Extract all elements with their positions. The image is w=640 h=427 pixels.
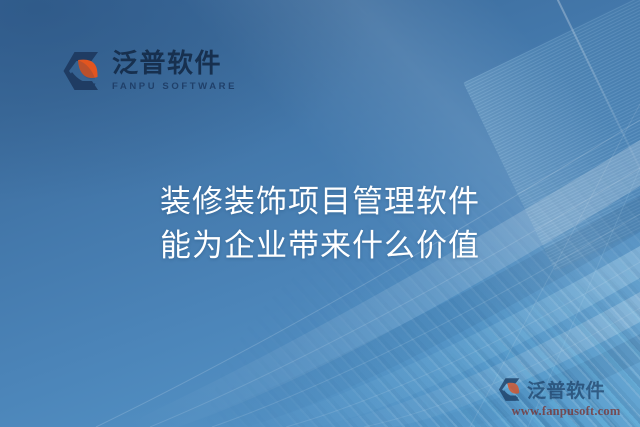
brand-name-cn: 泛普软件 bbox=[112, 51, 237, 77]
fanpu-hexagon-swoosh-logo-icon bbox=[62, 50, 104, 92]
headline-block: 装修装饰项目管理软件 能为企业带来什么价值 bbox=[0, 180, 640, 268]
watermark-brand-name: 泛普软件 bbox=[527, 376, 605, 403]
watermark-logo-row: 泛普软件 bbox=[498, 376, 634, 403]
headline-line-2: 能为企业带来什么价值 bbox=[0, 224, 640, 268]
brand-name-en: FANPU SOFTWARE bbox=[112, 82, 237, 92]
fanpu-hexagon-swoosh-logo-icon bbox=[498, 377, 523, 402]
headline-line-1: 装修装饰项目管理软件 bbox=[0, 180, 640, 224]
watermark-url: www.fanpusoft.com bbox=[498, 404, 634, 419]
banner-canvas: 泛普软件 FANPU SOFTWARE 装修装饰项目管理软件 能为企业带来什么价… bbox=[0, 0, 640, 427]
watermark: 泛普软件 www.fanpusoft.com bbox=[498, 376, 634, 419]
brand-logo: 泛普软件 FANPU SOFTWARE bbox=[62, 50, 237, 92]
brand-text-block: 泛普软件 FANPU SOFTWARE bbox=[112, 51, 237, 92]
